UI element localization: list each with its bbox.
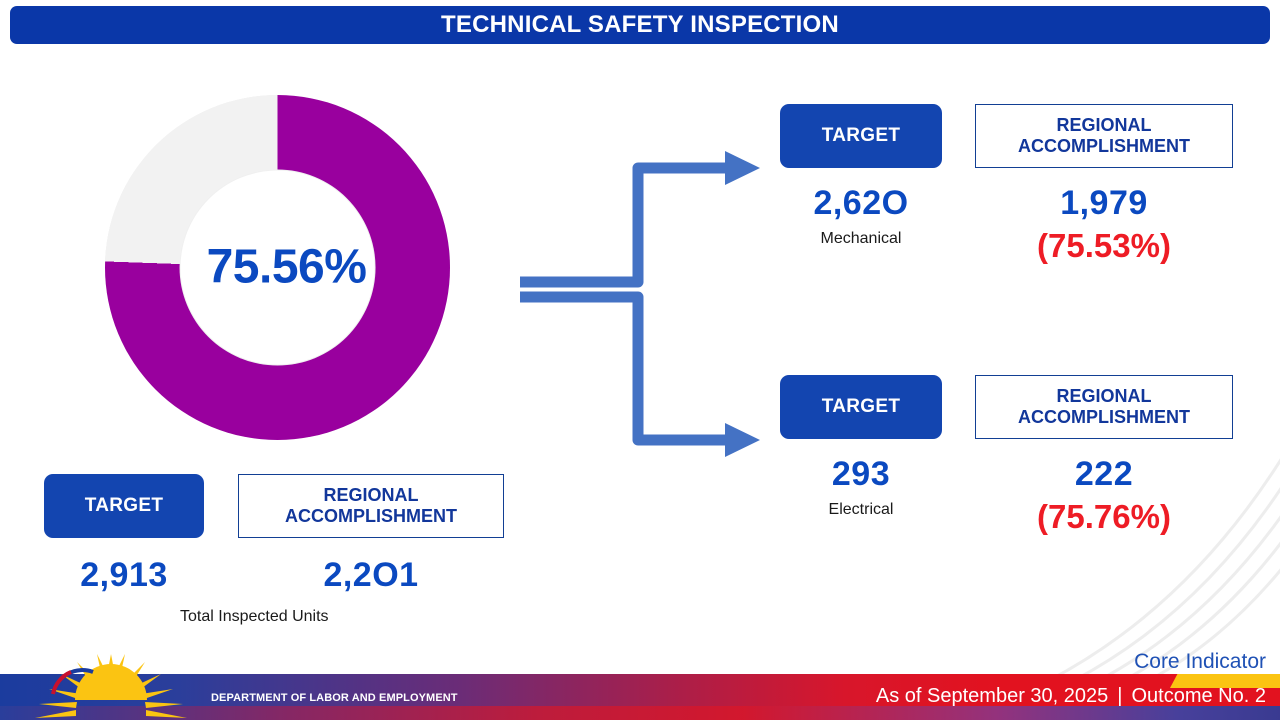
caption-total: Total Inspected Units xyxy=(180,608,329,626)
branch-arrow-icon xyxy=(515,145,765,465)
donut-chart: 75.56% xyxy=(105,95,450,440)
footer-separator: | xyxy=(1117,685,1122,708)
target-label-mechanical: TARGET xyxy=(822,125,901,147)
ra-label-line1-mechanical: REGIONAL xyxy=(1056,115,1151,135)
target-value-electrical: 293 xyxy=(780,455,942,494)
target-pill-electrical: TARGET xyxy=(780,375,942,439)
target-label-electrical: TARGET xyxy=(822,396,901,418)
core-indicator-label: Core Indicator xyxy=(1134,650,1266,674)
accomplishment-percent-mechanical: (75.53%) xyxy=(975,227,1233,265)
donut-center: 75.56% xyxy=(180,170,375,365)
metric-group-total: TARGET 2,913 REGIONAL ACCOMPLISHMENT 2,2… xyxy=(44,474,514,595)
as-of-date: As of September 30, 2025 xyxy=(876,685,1108,708)
target-pill-total: TARGET xyxy=(44,474,204,538)
ra-label-line1-electrical: REGIONAL xyxy=(1056,386,1151,406)
metric-group-mechanical: TARGET 2,62O Mechanical REGIONAL ACCOMPL… xyxy=(780,104,1260,265)
agency-name: DEPARTMENT OF LABOR AND EMPLOYMENT xyxy=(211,692,458,704)
accomplishment-value-mechanical: 1,979 xyxy=(975,184,1233,223)
target-label-total: TARGET xyxy=(85,495,164,517)
ra-label-line2-electrical: ACCOMPLISHMENT xyxy=(1018,407,1190,427)
outcome-label: Outcome No. 2 xyxy=(1131,685,1266,708)
page-title: TECHNICAL SAFETY INSPECTION xyxy=(441,11,839,39)
page-header-bar: TECHNICAL SAFETY INSPECTION xyxy=(10,6,1270,44)
regional-accomplishment-box-electrical: REGIONAL ACCOMPLISHMENT xyxy=(975,375,1233,439)
metric-group-electrical: TARGET 293 Electrical REGIONAL ACCOMPLIS… xyxy=(780,375,1260,536)
target-pill-mechanical: TARGET xyxy=(780,104,942,168)
caption-mechanical: Mechanical xyxy=(780,230,942,248)
caption-electrical: Electrical xyxy=(780,501,942,519)
ra-label-line2-total: ACCOMPLISHMENT xyxy=(285,506,457,526)
donut-percentage-label: 75.56% xyxy=(207,240,367,295)
ra-label-line2-mechanical: ACCOMPLISHMENT xyxy=(1018,136,1190,156)
target-value-mechanical: 2,62O xyxy=(780,184,942,223)
ra-label-line1-total: REGIONAL xyxy=(323,485,418,505)
target-value-total: 2,913 xyxy=(44,556,204,595)
accomplishment-value-electrical: 222 xyxy=(975,455,1233,494)
regional-accomplishment-box-total: REGIONAL ACCOMPLISHMENT xyxy=(238,474,504,538)
regional-accomplishment-box-mechanical: REGIONAL ACCOMPLISHMENT xyxy=(975,104,1233,168)
accomplishment-value-total: 2,2O1 xyxy=(238,556,504,595)
footer-meta: As of September 30, 2025 | Outcome No. 2 xyxy=(876,685,1266,708)
footer-bar: DEPARTMENT OF LABOR AND EMPLOYMENT As of… xyxy=(0,674,1280,720)
footer-bar-lower-gradient xyxy=(0,706,1280,720)
accomplishment-percent-electrical: (75.76%) xyxy=(975,498,1233,536)
